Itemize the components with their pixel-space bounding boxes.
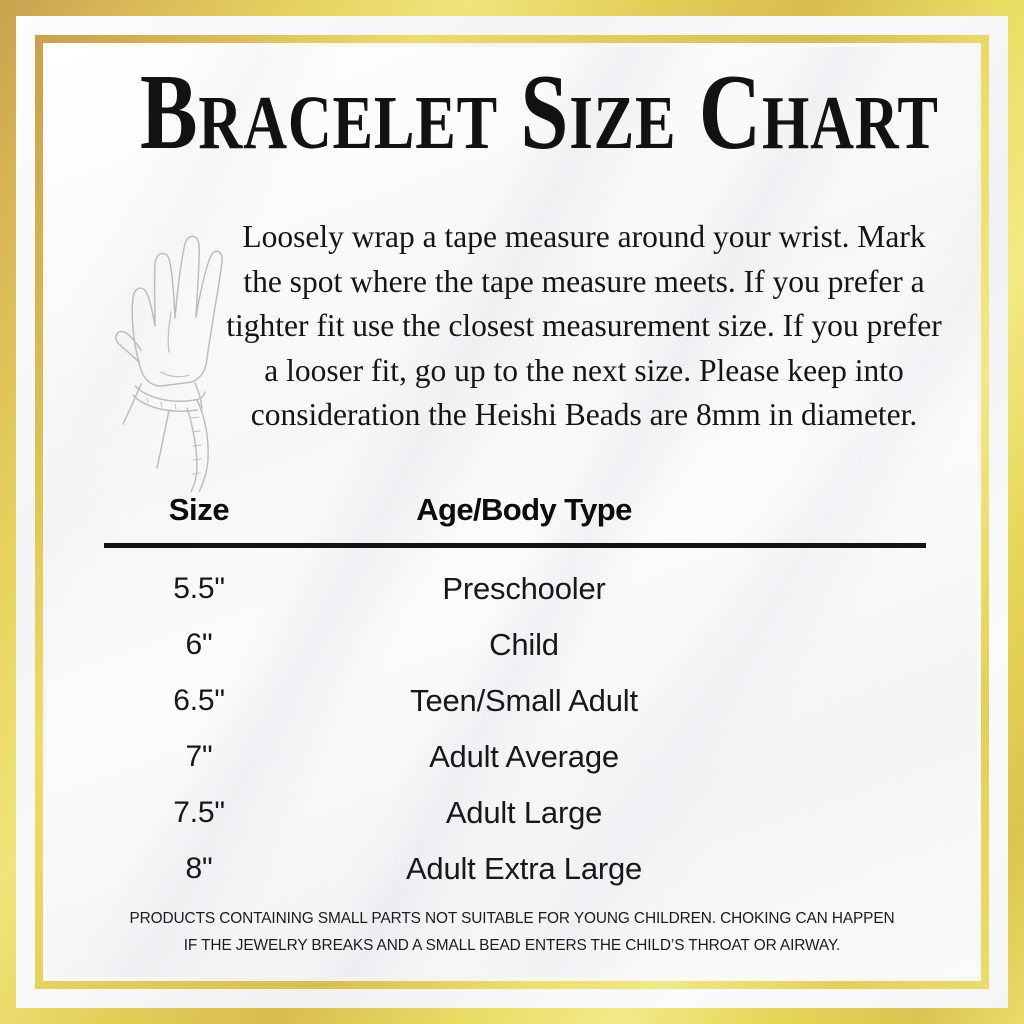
cell-size: 8" <box>104 852 294 886</box>
cell-size: 7" <box>104 740 294 774</box>
cell-age-body-type: Adult Large <box>294 795 754 831</box>
cell-age-body-type: Preschooler <box>294 571 754 607</box>
poster-canvas: Bracelet Size Chart <box>47 47 977 977</box>
cell-age-body-type: Teen/Small Adult <box>294 683 754 719</box>
cell-size: 7.5" <box>104 796 294 830</box>
cell-age-body-type: Adult Extra Large <box>294 851 754 887</box>
instructions-paragraph: Loosely wrap a tape measure around your … <box>225 215 943 438</box>
header-divider-rule <box>104 543 926 548</box>
page-title: Bracelet Size Chart <box>140 59 884 167</box>
cell-size: 6" <box>104 628 294 662</box>
size-chart-poster: Bracelet Size Chart <box>0 0 1024 1024</box>
size-table: Size Age/Body Type 5.5" Preschooler 6" C… <box>104 487 967 897</box>
table-row: 5.5" Preschooler <box>104 561 967 617</box>
cell-size: 5.5" <box>104 572 294 606</box>
disclaimer-line-1: PRODUCTS CONTAINING SMALL PARTS NOT SUIT… <box>57 905 967 932</box>
table-header-row: Size Age/Body Type <box>104 487 967 533</box>
table-row: 6.5" Teen/Small Adult <box>104 673 967 729</box>
safety-disclaimer: PRODUCTS CONTAINING SMALL PARTS NOT SUIT… <box>57 905 967 959</box>
column-header-size: Size <box>104 492 294 528</box>
disclaimer-line-2: IF THE JEWELRY BREAKS AND A SMALL BEAD E… <box>57 932 967 959</box>
cell-age-body-type: Child <box>294 627 754 663</box>
column-header-age-body-type: Age/Body Type <box>294 492 754 528</box>
cell-age-body-type: Adult Average <box>294 739 754 775</box>
cell-size: 6.5" <box>104 684 294 718</box>
table-row: 7" Adult Average <box>104 729 967 785</box>
table-row: 8" Adult Extra Large <box>104 841 967 897</box>
table-body: 5.5" Preschooler 6" Child 6.5" Teen/Smal… <box>104 561 967 897</box>
table-row: 7.5" Adult Large <box>104 785 967 841</box>
table-row: 6" Child <box>104 617 967 673</box>
